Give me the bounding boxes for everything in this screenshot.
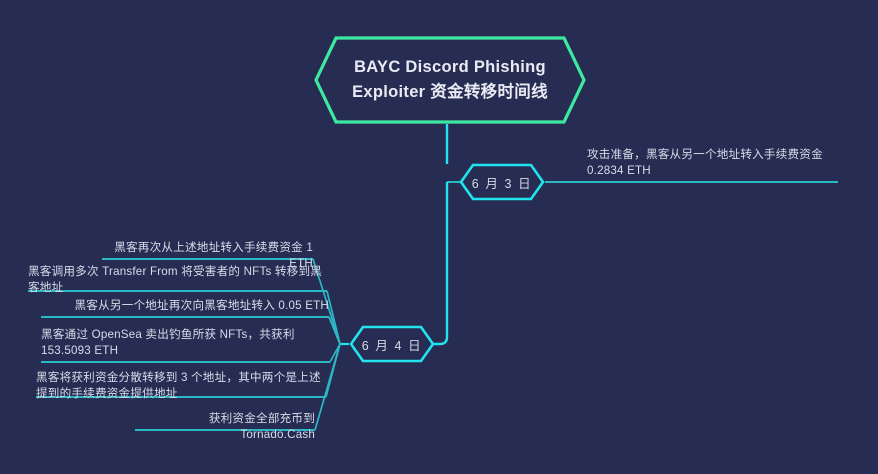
branch-label-jun4-6: 获利资金全部充币到 Tornado.Cash <box>135 411 315 443</box>
title-line-1: BAYC Discord Phishing <box>354 55 546 80</box>
page-title: BAYC Discord Phishing Exploiter 资金转移时间线 <box>314 36 586 124</box>
branch-label-jun4-2: 黑客调用多次 Transfer From 将受害者的 NFTs 转移到黑客地址 <box>28 264 327 296</box>
date-label-jun-4: 6 月 4 日 <box>349 325 435 363</box>
title-line-2: Exploiter 资金转移时间线 <box>352 80 548 105</box>
branch-label-jun4-5: 黑客将获利资金分散转移到 3 个地址，其中两个是上述提到的手续费资金提供地址 <box>36 370 326 402</box>
date-node-jun-3[interactable]: 6 月 3 日 <box>459 163 545 201</box>
mindmap-canvas: BAYC Discord Phishing Exploiter 资金转移时间线 … <box>0 0 878 474</box>
branch-label-jun4-3: 黑客从另一个地址再次向黑客地址转入 0.05 ETH <box>41 298 329 314</box>
branch-label-jun3-1: 攻击准备，黑客从另一个地址转入手续费资金 0.2834 ETH <box>587 147 843 179</box>
branch-label-jun4-4: 黑客通过 OpenSea 卖出钓鱼所获 NFTs，共获利 153.5093 ET… <box>41 327 329 359</box>
date-node-jun-4[interactable]: 6 月 4 日 <box>349 325 435 363</box>
title-node: BAYC Discord Phishing Exploiter 资金转移时间线 <box>314 36 586 124</box>
date-label-jun-3: 6 月 3 日 <box>459 163 545 201</box>
